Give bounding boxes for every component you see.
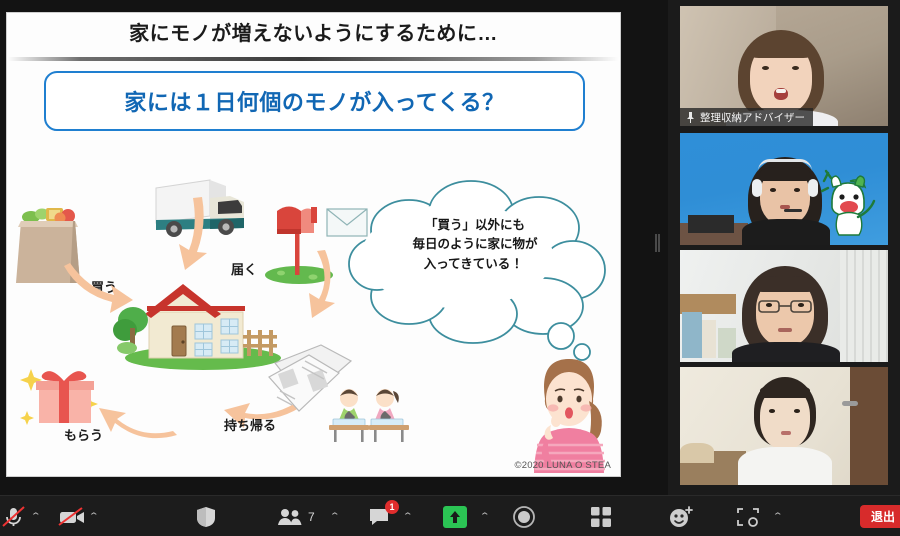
pin-icon bbox=[686, 112, 695, 123]
shared-screen-stage[interactable]: 家にモノが増えないようにするために… 家には１日何個のモノが入ってくる？ bbox=[0, 0, 668, 495]
share-caret[interactable]: ⌃ bbox=[479, 512, 490, 521]
video-options-caret[interactable]: ⌃ bbox=[88, 512, 99, 521]
record-control[interactable] bbox=[512, 496, 536, 536]
microphone-muted-icon[interactable] bbox=[2, 506, 28, 528]
video-feed-3 bbox=[680, 367, 888, 485]
label-bring-home: 持ち帰る bbox=[224, 415, 276, 434]
mascot-character bbox=[822, 169, 878, 239]
chat-control[interactable]: 1 ⌃ bbox=[368, 496, 412, 536]
apps-control[interactable] bbox=[589, 496, 613, 536]
view-splitter-handle[interactable] bbox=[655, 234, 660, 252]
video-feed-2 bbox=[680, 250, 888, 362]
slide-title: 家にモノが増えないようにするために… bbox=[7, 17, 620, 46]
participants-filmstrip[interactable]: 整理収納アドバイザー bbox=[668, 0, 900, 495]
mic-options-caret[interactable]: ⌃ bbox=[30, 512, 41, 521]
title-divider bbox=[7, 57, 620, 61]
security-control[interactable] bbox=[196, 496, 216, 536]
label-receive: もらう bbox=[64, 425, 103, 444]
chat-caret[interactable]: ⌃ bbox=[402, 512, 413, 521]
shield-icon[interactable] bbox=[196, 506, 216, 528]
question-text: 家には１日何個のモノが入ってくる？ bbox=[124, 85, 504, 117]
question-box: 家には１日何個のモノが入ってくる？ bbox=[44, 71, 585, 131]
participant-name-0: 整理収納アドバイザー bbox=[700, 110, 805, 125]
share-screen-control[interactable]: ⌃ bbox=[443, 496, 489, 536]
record-icon[interactable] bbox=[512, 505, 536, 529]
video-tile-0[interactable]: 整理収納アドバイザー bbox=[680, 6, 888, 126]
video-tile-2[interactable] bbox=[680, 250, 888, 362]
chat-unread-badge: 1 bbox=[385, 500, 399, 514]
video-off-icon[interactable] bbox=[58, 507, 86, 527]
meeting-toolbar[interactable]: ⌃ ⌃ 7 ⌃ bbox=[0, 495, 900, 536]
participants-control[interactable]: 7 ⌃ bbox=[278, 496, 338, 536]
video-control[interactable]: ⌃ bbox=[58, 496, 98, 536]
participant-name-bar-0: 整理収納アドバイザー bbox=[680, 108, 813, 126]
breakout-caret[interactable]: ⌃ bbox=[772, 512, 783, 521]
share-screen-icon[interactable] bbox=[443, 506, 467, 528]
breakout-rooms-control[interactable]: ⌃ bbox=[736, 496, 782, 536]
reaction-smiley-icon[interactable] bbox=[668, 505, 694, 529]
mic-control[interactable]: ⌃ bbox=[2, 496, 40, 536]
reactions-control[interactable] bbox=[668, 496, 694, 536]
leave-label: 退出 bbox=[871, 508, 895, 525]
video-tile-3[interactable] bbox=[680, 367, 888, 485]
video-tile-1[interactable] bbox=[680, 133, 888, 245]
participants-icon[interactable] bbox=[278, 508, 302, 526]
gift-box-illustration bbox=[17, 359, 109, 431]
students-at-desks-illustration bbox=[327, 381, 413, 443]
participants-count: 7 bbox=[308, 510, 315, 524]
thinking-woman-illustration bbox=[527, 353, 611, 473]
presentation-slide[interactable]: 家にモノが増えないようにするために… 家には１日何個のモノが入ってくる？ bbox=[7, 13, 620, 476]
zoom-meeting-window: 家にモノが増えないようにするために… 家には１日何個のモノが入ってくる？ bbox=[0, 0, 900, 536]
leave-meeting-button[interactable]: 退出 bbox=[860, 505, 900, 528]
eyeglasses bbox=[756, 298, 814, 314]
slide-copyright: ©2020 LUNA O STEA bbox=[515, 460, 611, 471]
video-feed-1 bbox=[680, 133, 888, 245]
participants-caret[interactable]: ⌃ bbox=[329, 512, 340, 521]
apps-grid-icon[interactable] bbox=[589, 505, 613, 529]
thought-bubble-text: 「買う」以外にも 毎日のように家に物が 入ってきている ！ bbox=[375, 216, 575, 274]
breakout-rooms-icon[interactable] bbox=[736, 506, 760, 528]
